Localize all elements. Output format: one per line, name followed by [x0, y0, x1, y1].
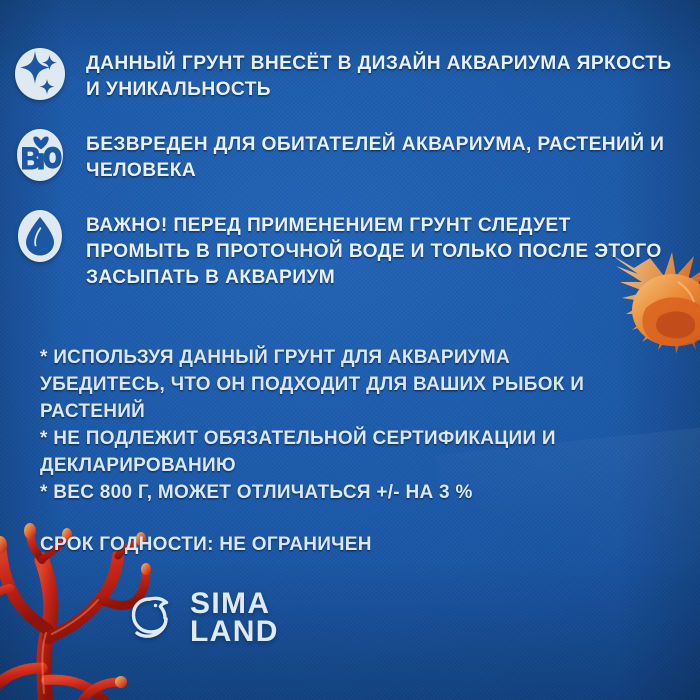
- feature-text: Важно! Перед применением грунт следует п…: [86, 206, 677, 291]
- brand-logo: SIMA LAND: [130, 590, 279, 645]
- feature-item-bio: Безвреден для обитателей аквариума, раст…: [14, 125, 686, 184]
- notes-block: * Используя данный грунт для аквариума у…: [40, 344, 680, 506]
- note-line: декларированию: [40, 452, 680, 479]
- feature-item-water-drop: Важно! Перед применением грунт следует п…: [14, 206, 686, 291]
- note-line: растений: [40, 398, 680, 425]
- water-drop-icon: [14, 208, 66, 264]
- brand-line-2: LAND: [190, 618, 279, 646]
- note-line: * Вес 800 г, может отличаться +/- на 3 %: [40, 479, 680, 506]
- package-back-panel: Данный грунт внесёт в дизайн аквариума я…: [0, 0, 700, 700]
- shelf-life-text: Срок годности: не ограничен: [40, 531, 372, 558]
- dolphin-icon: [130, 592, 178, 644]
- feature-item-sparkle: Данный грунт внесёт в дизайн аквариума я…: [14, 44, 686, 103]
- feature-list: Данный грунт внесёт в дизайн аквариума я…: [14, 44, 686, 290]
- note-line: * Не подлежит обязательной сертификации …: [40, 425, 680, 452]
- note-line: * Используя данный грунт для аквариума: [40, 344, 680, 371]
- feature-text: Безвреден для обитателей аквариума, раст…: [86, 125, 677, 184]
- sparkle-icon: [14, 46, 66, 102]
- feature-text: Данный грунт внесёт в дизайн аквариума я…: [86, 44, 677, 103]
- brand-wordmark: SIMA LAND: [190, 590, 279, 645]
- bio-icon: [14, 127, 66, 183]
- note-line: убедитесь, что он подходит для ваших рыб…: [40, 371, 680, 398]
- label-content: Данный грунт внесёт в дизайн аквариума я…: [0, 0, 700, 700]
- brand-line-1: SIMA: [190, 590, 279, 618]
